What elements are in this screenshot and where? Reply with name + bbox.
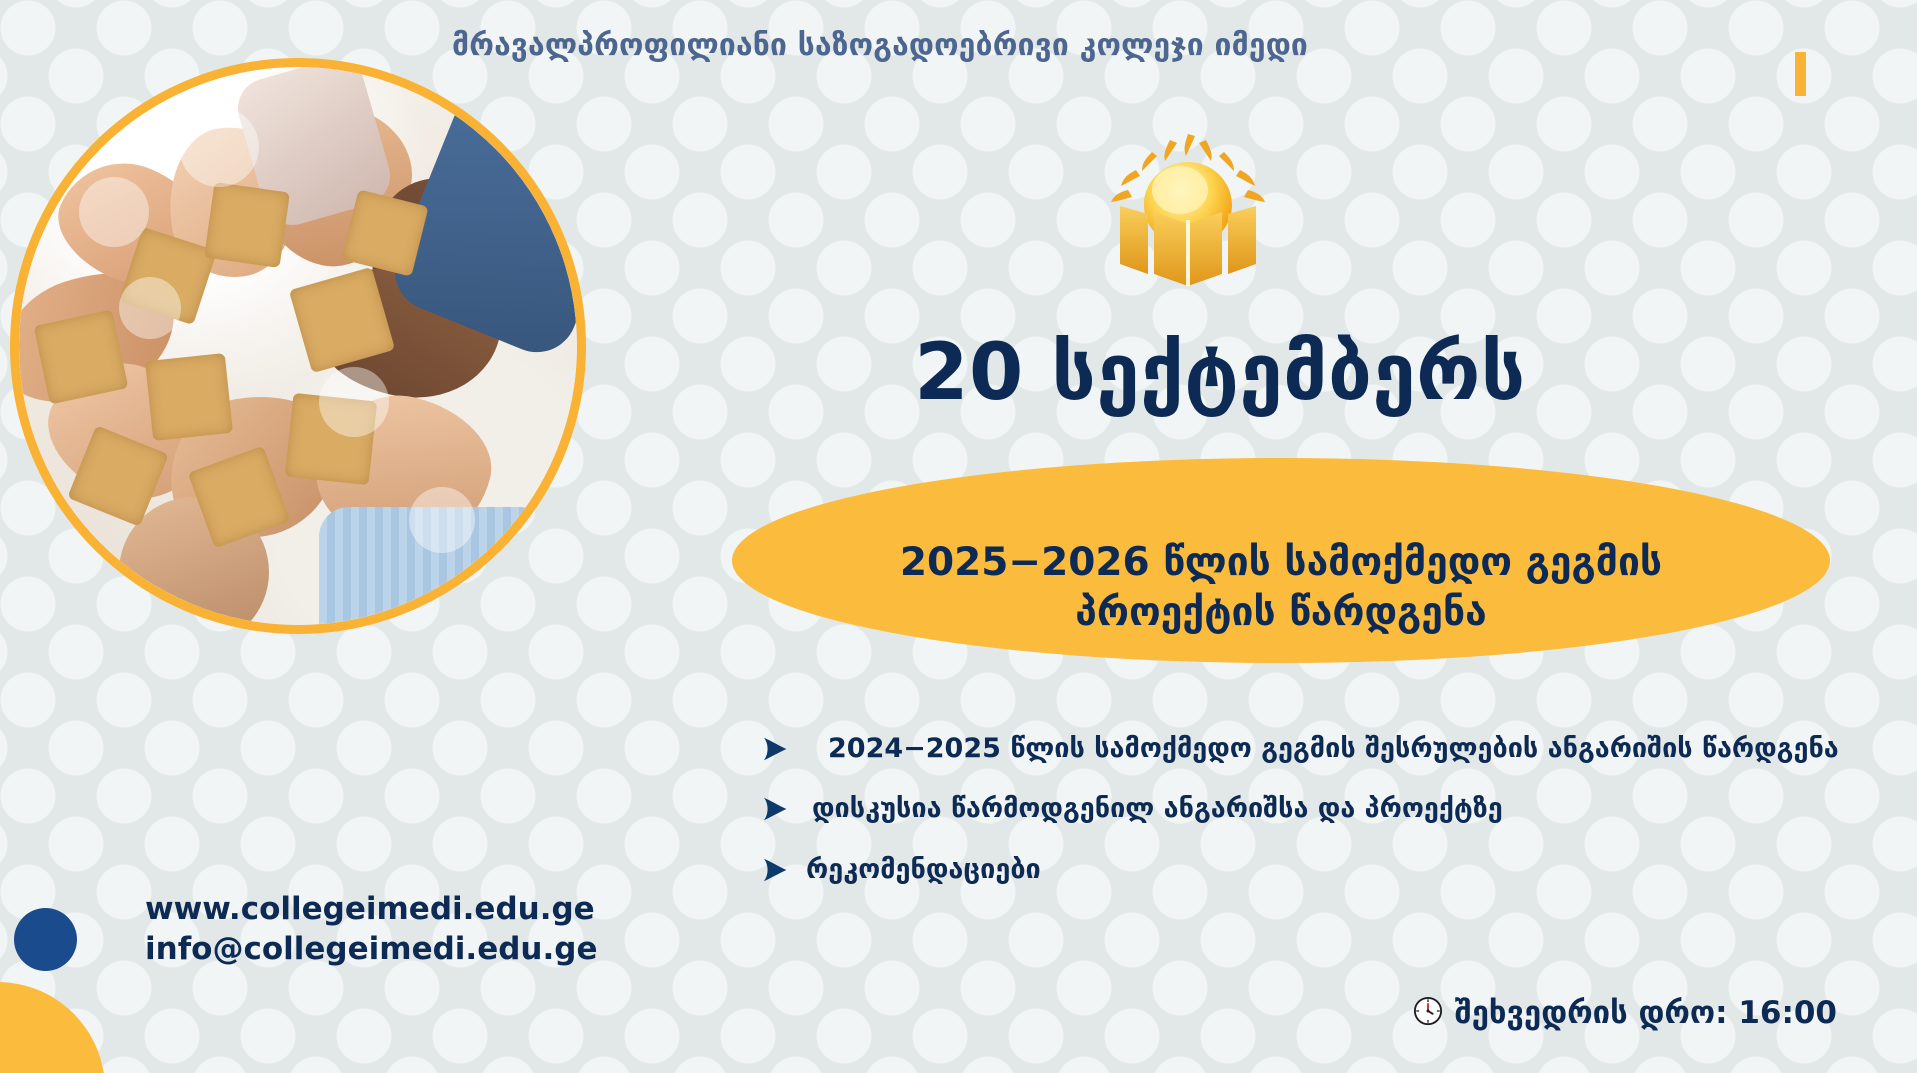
arrow-right-icon	[760, 730, 806, 766]
list-item: დისკუსია წარმოდგენილ ანგარიშსა და პროექტ…	[760, 790, 1870, 828]
bokeh-highlight	[79, 177, 149, 247]
list-item-label: რეკომენდაციები	[806, 851, 1041, 889]
photo-inner	[19, 67, 577, 625]
meeting-time-label: შეხვედრის დრო: 16:00	[1455, 995, 1837, 1031]
bokeh-highlight	[119, 277, 181, 339]
bokeh-highlight	[179, 107, 259, 187]
list-item: რეკომენდაციები	[760, 851, 1870, 889]
yellow-accent-bar	[1795, 52, 1806, 96]
email-link[interactable]: info@collegeimedi.edu.ge	[145, 930, 597, 970]
college-imedi-logo	[1100, 128, 1280, 288]
highlight-line-1: 2025−2026 წლის სამოქმედო გეგმის	[900, 540, 1662, 585]
blue-circle-decoration	[14, 908, 77, 971]
list-item-label: 2024−2025 წლის სამოქმედო გეგმის შესრულებ…	[806, 730, 1839, 768]
website-link[interactable]: www.collegeimedi.edu.ge	[145, 890, 597, 930]
puzzle-piece	[34, 310, 129, 405]
institution-title: მრავალპროფილიანი საზოგადოებრივი კოლეჯი ი…	[0, 28, 1760, 63]
page-title: 20 სექტემბერს	[720, 328, 1720, 418]
contact-block: www.collegeimedi.edu.ge info@collegeimed…	[145, 890, 597, 969]
meeting-time: შეხვედრის დრო: 16:00	[1413, 995, 1837, 1031]
list-item-label: დისკუსია წარმოდგენილ ანგარიშსა და პროექტ…	[806, 790, 1503, 828]
highlight-line-2: პროექტის წარდგენა	[732, 588, 1830, 638]
arrow-right-icon	[760, 851, 806, 887]
agenda-list: 2024−2025 წლის სამოქმედო გეგმის შესრულებ…	[760, 730, 1870, 911]
puzzle-piece	[145, 353, 233, 441]
bokeh-highlight	[409, 487, 475, 553]
highlight-text: 2025−2026 წლის სამოქმედო გეგმის პროექტის…	[732, 538, 1830, 638]
poster-canvas: მრავალპროფილიანი საზოგადოებრივი კოლეჯი ი…	[0, 0, 1917, 1073]
clock-icon	[1413, 996, 1443, 1030]
teamwork-puzzle-photo	[10, 58, 586, 634]
bokeh-highlight	[319, 367, 389, 437]
arrow-right-icon	[760, 790, 806, 826]
puzzle-piece	[204, 182, 290, 268]
list-item: 2024−2025 წლის სამოქმედო გეგმის შესრულებ…	[760, 730, 1870, 768]
